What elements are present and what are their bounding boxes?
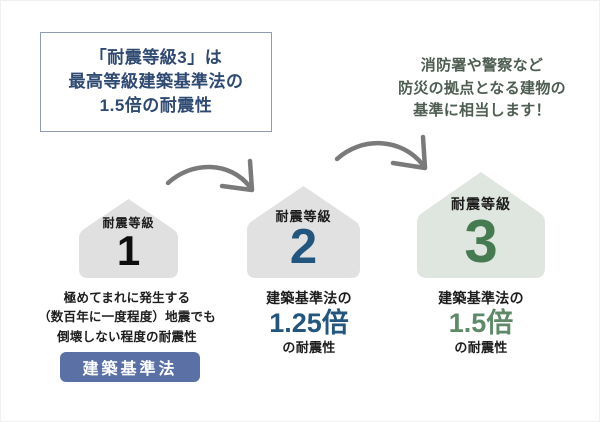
callout-line-1: 「耐震等級3」は xyxy=(90,46,222,70)
caption-grade-1-line-3: 倒壊しない程度の耐震性 xyxy=(25,328,229,347)
caption-grade-3-multiplier: 1.5倍 xyxy=(405,308,557,340)
house-grade-1: 耐震等級 1 xyxy=(77,197,180,280)
badge-label: 建築基準法 xyxy=(82,355,177,379)
caption-grade-2-bottom: の耐震性 xyxy=(233,340,385,357)
caption-grade-1-line-2: （数百年に一度程度）地震でも xyxy=(25,308,229,327)
caption-grade-3: 建築基準法の 1.5倍 の耐震性 xyxy=(405,289,557,357)
caption-grade-2-top: 建築基準法の xyxy=(233,289,385,308)
callout-box-grade3-summary: 「耐震等級3」は 最高等級建築基準法の 1.5倍の耐震性 xyxy=(40,32,272,132)
house-grade-3-number: 3 xyxy=(415,212,547,272)
caption-grade-2-multiplier: 1.25倍 xyxy=(233,308,385,340)
caption-grade-3-top: 建築基準法の xyxy=(405,289,557,308)
callout-line-3: 1.5倍の耐震性 xyxy=(100,94,213,118)
caption-grade-1: 極めてまれに発生する （数百年に一度程度）地震でも 倒壊しない程度の耐震性 xyxy=(25,289,229,347)
caption-grade-1-line-1: 極めてまれに発生する xyxy=(25,289,229,308)
caption-grade-3-bottom: の耐震性 xyxy=(405,340,557,357)
house-grade-3: 耐震等級 3 xyxy=(415,170,547,280)
right-note-line-1: 消防署や警察など xyxy=(373,55,591,78)
infographic-canvas: 「耐震等級3」は 最高等級建築基準法の 1.5倍の耐震性 消防署や警察など 防災… xyxy=(0,0,600,422)
right-note-line-2: 防災の拠点となる建物の xyxy=(373,78,591,101)
caption-grade-2: 建築基準法の 1.25倍 の耐震性 xyxy=(233,289,385,357)
badge-building-standards-act: 建築基準法 xyxy=(60,352,200,382)
right-note-grade3-equivalence: 消防署や警察など 防災の拠点となる建物の 基準に相当します！ xyxy=(373,55,591,123)
house-grade-1-number: 1 xyxy=(77,230,180,272)
house-grade-2: 耐震等級 2 xyxy=(245,184,362,280)
house-grade-2-number: 2 xyxy=(245,223,362,272)
callout-line-2: 最高等級建築基準法の xyxy=(69,70,244,94)
right-note-line-3: 基準に相当します！ xyxy=(373,100,591,123)
